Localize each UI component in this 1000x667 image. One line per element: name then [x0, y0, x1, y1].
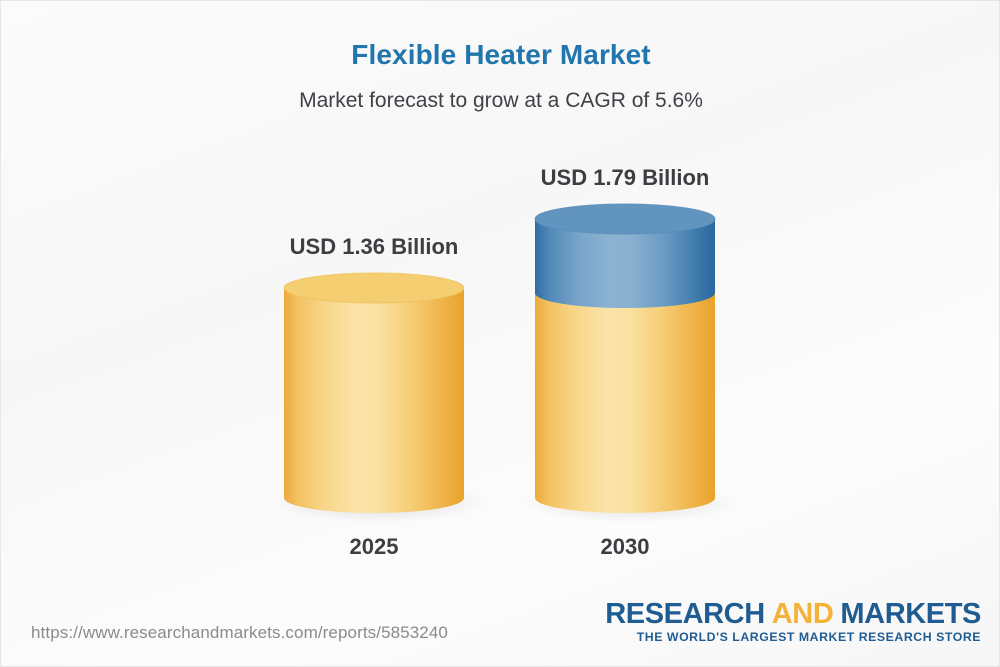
value-label-2030: USD 1.79 Billion: [535, 165, 715, 191]
brand-tagline: THE WORLD'S LARGEST MARKET RESEARCH STOR…: [605, 631, 981, 645]
bar-body-base: [284, 288, 464, 513]
brand-word-research: RESEARCH: [605, 598, 765, 630]
brand-logo[interactable]: RESEARCHANDMARKETS THE WORLD'S LARGEST M…: [605, 599, 981, 645]
source-url[interactable]: https://www.researchandmarkets.com/repor…: [31, 623, 448, 643]
chart-plot-area: USD 1.36 Billion USD 1.79 Billion 2025 2…: [1, 1, 1000, 601]
category-label-2025: 2025: [284, 534, 464, 560]
bar-2025[interactable]: [271, 273, 487, 523]
cylinder-bar-chart: [1, 1, 1000, 601]
brand-word-and: AND: [772, 598, 834, 630]
bar-2030[interactable]: [522, 204, 738, 523]
bar-body-base: [535, 293, 715, 513]
brand-word-markets: MARKETS: [840, 598, 981, 630]
value-label-2025: USD 1.36 Billion: [284, 234, 464, 260]
brand-wordmark: RESEARCHANDMARKETS: [605, 599, 981, 629]
category-label-2030: 2030: [535, 534, 715, 560]
infographic-canvas: Flexible Heater Market Market forecast t…: [0, 0, 1000, 667]
